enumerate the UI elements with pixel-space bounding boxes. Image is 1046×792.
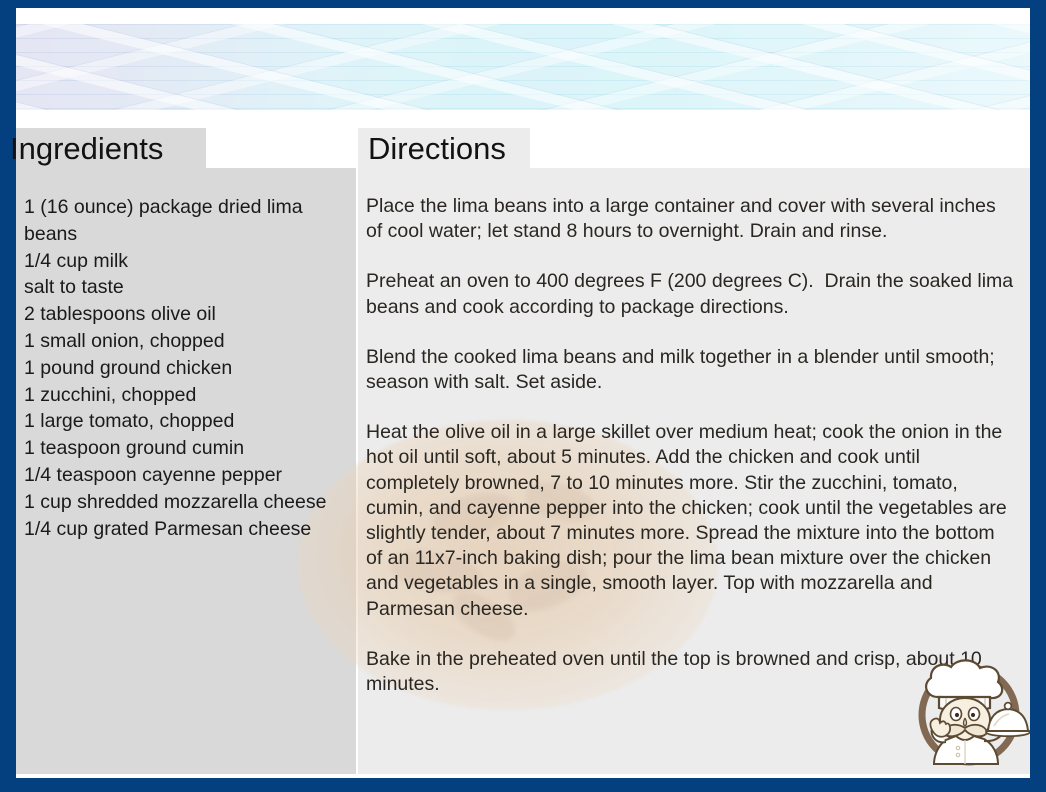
cloche-serving-dome-icon [986, 703, 1030, 737]
directions-list: Place the lima beans into a large contai… [366, 194, 1014, 697]
recipe-card: Legume My Shepherd's Pie Ingredients Dir… [0, 0, 1046, 792]
chef-mascot-logo [908, 652, 1030, 770]
ingredient-item: 1/4 teaspoon cayenne pepper [24, 462, 354, 489]
ingredient-item: 1 teaspoon ground cumin [24, 435, 354, 462]
title-banner [16, 24, 1030, 110]
direction-step: Heat the olive oil in a large skillet ov… [366, 420, 1014, 622]
ingredient-item: 1/4 cup milk [24, 248, 354, 275]
ingredients-list: 1 (16 ounce) package dried lima beans1/4… [24, 194, 354, 542]
ingredient-item: 1 small onion, chopped [24, 328, 354, 355]
directions-heading: Directions [368, 128, 506, 170]
direction-step: Preheat an oven to 400 degrees F (200 de… [366, 269, 1014, 319]
ingredient-item: 1 zucchini, chopped [24, 382, 354, 409]
ingredient-item: 1 (16 ounce) package dried lima beans [24, 194, 354, 248]
ingredients-heading: Ingredients [10, 128, 163, 170]
banner-left-fade [16, 24, 316, 110]
direction-step: Blend the cooked lima beans and milk tog… [366, 345, 1014, 395]
direction-step: Place the lima beans into a large contai… [366, 194, 1014, 244]
ingredient-item: 1 cup shredded mozzarella cheese [24, 489, 354, 516]
banner-weave-texture [16, 24, 1030, 110]
ingredient-item: 2 tablespoons olive oil [24, 301, 354, 328]
ingredient-item: salt to taste [24, 274, 354, 301]
ingredient-item: 1/4 cup grated Parmesan cheese [24, 516, 354, 543]
ingredient-item: 1 pound ground chicken [24, 355, 354, 382]
ingredient-item: 1 large tomato, chopped [24, 408, 354, 435]
